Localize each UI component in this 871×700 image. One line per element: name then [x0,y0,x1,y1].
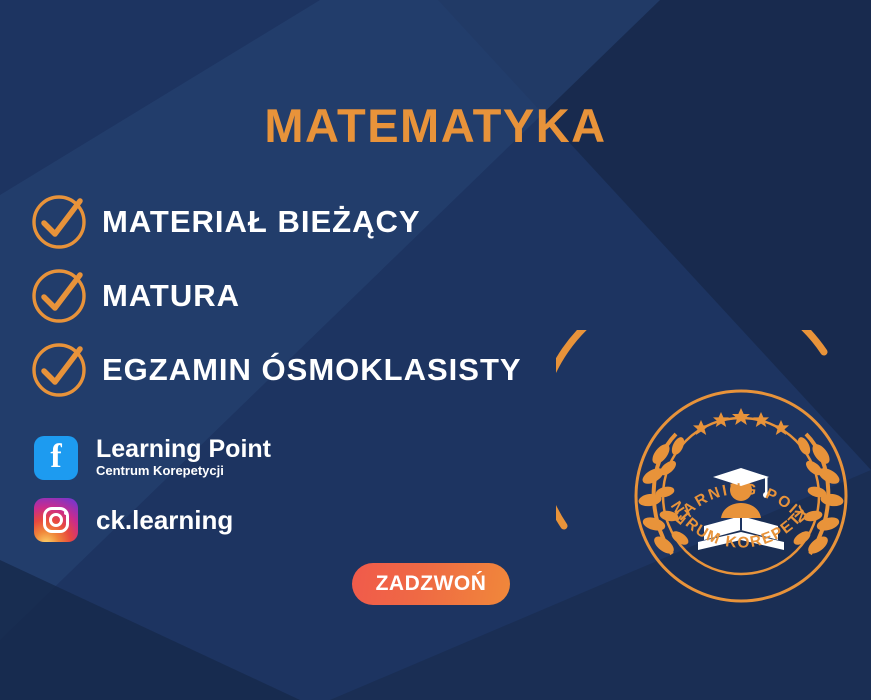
logo-top-text: LEARNING POINT [556,330,812,528]
facebook-page-subtitle: Centrum Korepetycji [96,463,224,478]
logo-stars [693,408,789,435]
list-item: MATURA [30,259,522,333]
facebook-icon[interactable]: f [34,436,78,480]
check-circle-icon [30,341,88,399]
instagram-handle: ck.learning [96,505,233,536]
instagram-icon[interactable] [34,498,78,542]
facebook-page-name: Learning Point [96,435,271,463]
brand-logo: LEARNING POINT CENTRUM KOREPETYCJI [556,330,856,618]
offer-list: MATERIAŁ BIEŻĄCY MATURA EGZAMIN ÓSMOKLAS… [30,185,522,407]
list-item-label: EGZAMIN ÓSMOKLASISTY [102,352,522,388]
check-circle-icon [30,193,88,251]
list-item-label: MATURA [102,278,240,314]
facebook-link[interactable]: f Learning Point Centrum Korepetycji [34,436,271,480]
check-circle-icon [30,267,88,325]
call-button[interactable]: ZADZWOŃ [352,563,510,605]
list-item: EGZAMIN ÓSMOKLASISTY [30,333,522,407]
list-item-label: MATERIAŁ BIEŻĄCY [102,204,421,240]
instagram-link[interactable]: ck.learning [34,498,271,542]
social-links: f Learning Point Centrum Korepetycji ck.… [34,436,271,560]
list-item: MATERIAŁ BIEŻĄCY [30,185,522,259]
page-title: MATEMATYKA [0,98,871,153]
